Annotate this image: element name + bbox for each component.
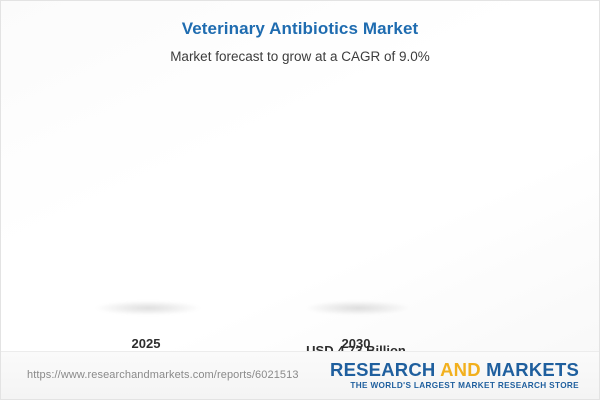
category-label-2030: 2030 — [276, 336, 436, 351]
chart-subtitle: Market forecast to grow at a CAGR of 9.0… — [1, 49, 599, 64]
bar-shadow-2030 — [306, 301, 410, 315]
logo-wordmark: RESEARCH AND MARKETS — [330, 360, 579, 379]
footer: https://www.researchandmarkets.com/repor… — [1, 351, 599, 399]
infographic-card: Veterinary Antibiotics Market Market for… — [0, 0, 600, 400]
brand-logo: RESEARCH AND MARKETS THE WORLD'S LARGEST… — [330, 360, 579, 390]
chart-plot-area: USD 3.06 Billion 2025 USD 4.73 Billion — [1, 86, 599, 351]
logo-word-and: AND — [440, 359, 481, 380]
logo-tagline: THE WORLD'S LARGEST MARKET RESEARCH STOR… — [330, 381, 579, 390]
category-label-2025: 2025 — [66, 336, 226, 351]
bar-shadow-2025 — [96, 301, 200, 315]
logo-word-research: RESEARCH — [330, 359, 435, 380]
report-url[interactable]: https://www.researchandmarkets.com/repor… — [27, 369, 299, 381]
page-title: Veterinary Antibiotics Market — [1, 19, 599, 39]
logo-word-markets: MARKETS — [486, 359, 579, 380]
chart-header: Veterinary Antibiotics Market Market for… — [1, 1, 599, 64]
